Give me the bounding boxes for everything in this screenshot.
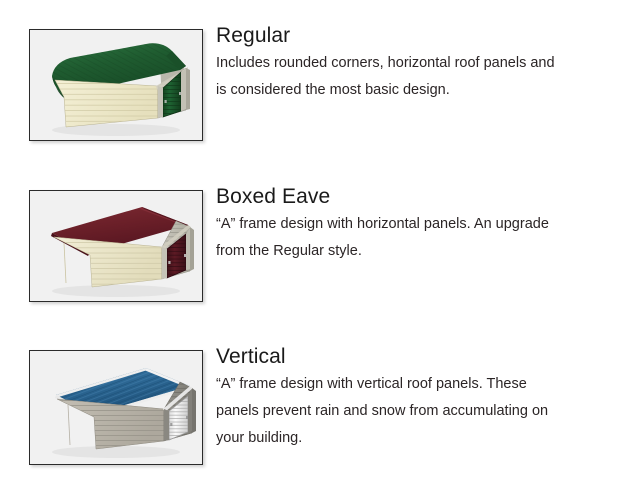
regular-building-illustration [30, 30, 202, 141]
vertical-style-scene [30, 351, 202, 464]
vertical-building-illustration [30, 351, 202, 464]
roof-style-item-boxed-eave: Boxed Eave “A” frame design with horizon… [0, 182, 643, 332]
regular-style-description: Includes rounded corners, horizontal roo… [216, 50, 561, 104]
boxed-eave-style-description: “A” frame design with horizontal panels.… [216, 211, 561, 265]
roof-style-list: Regular Includes rounded corners, horizo… [0, 0, 643, 484]
regular-style-copy: Regular Includes rounded corners, horizo… [216, 23, 586, 104]
roof-style-item-vertical: Vertical “A” frame design with vertical … [0, 342, 643, 482]
vertical-style-thumbnail[interactable] [29, 350, 203, 465]
boxed-eave-building-illustration [30, 191, 202, 302]
roof-style-item-regular: Regular Includes rounded corners, horizo… [0, 21, 643, 171]
boxed-eave-style-scene [30, 191, 202, 302]
regular-style-scene [30, 30, 202, 141]
boxed-eave-style-thumbnail[interactable] [29, 190, 203, 302]
regular-style-thumbnail[interactable] [29, 29, 203, 141]
boxed-eave-style-title: Boxed Eave [216, 184, 586, 209]
boxed-eave-style-copy: Boxed Eave “A” frame design with horizon… [216, 184, 586, 265]
regular-style-title: Regular [216, 23, 586, 48]
vertical-style-description: “A” frame design with vertical roof pane… [216, 371, 561, 452]
vertical-style-title: Vertical [216, 344, 586, 369]
vertical-style-copy: Vertical “A” frame design with vertical … [216, 344, 586, 452]
